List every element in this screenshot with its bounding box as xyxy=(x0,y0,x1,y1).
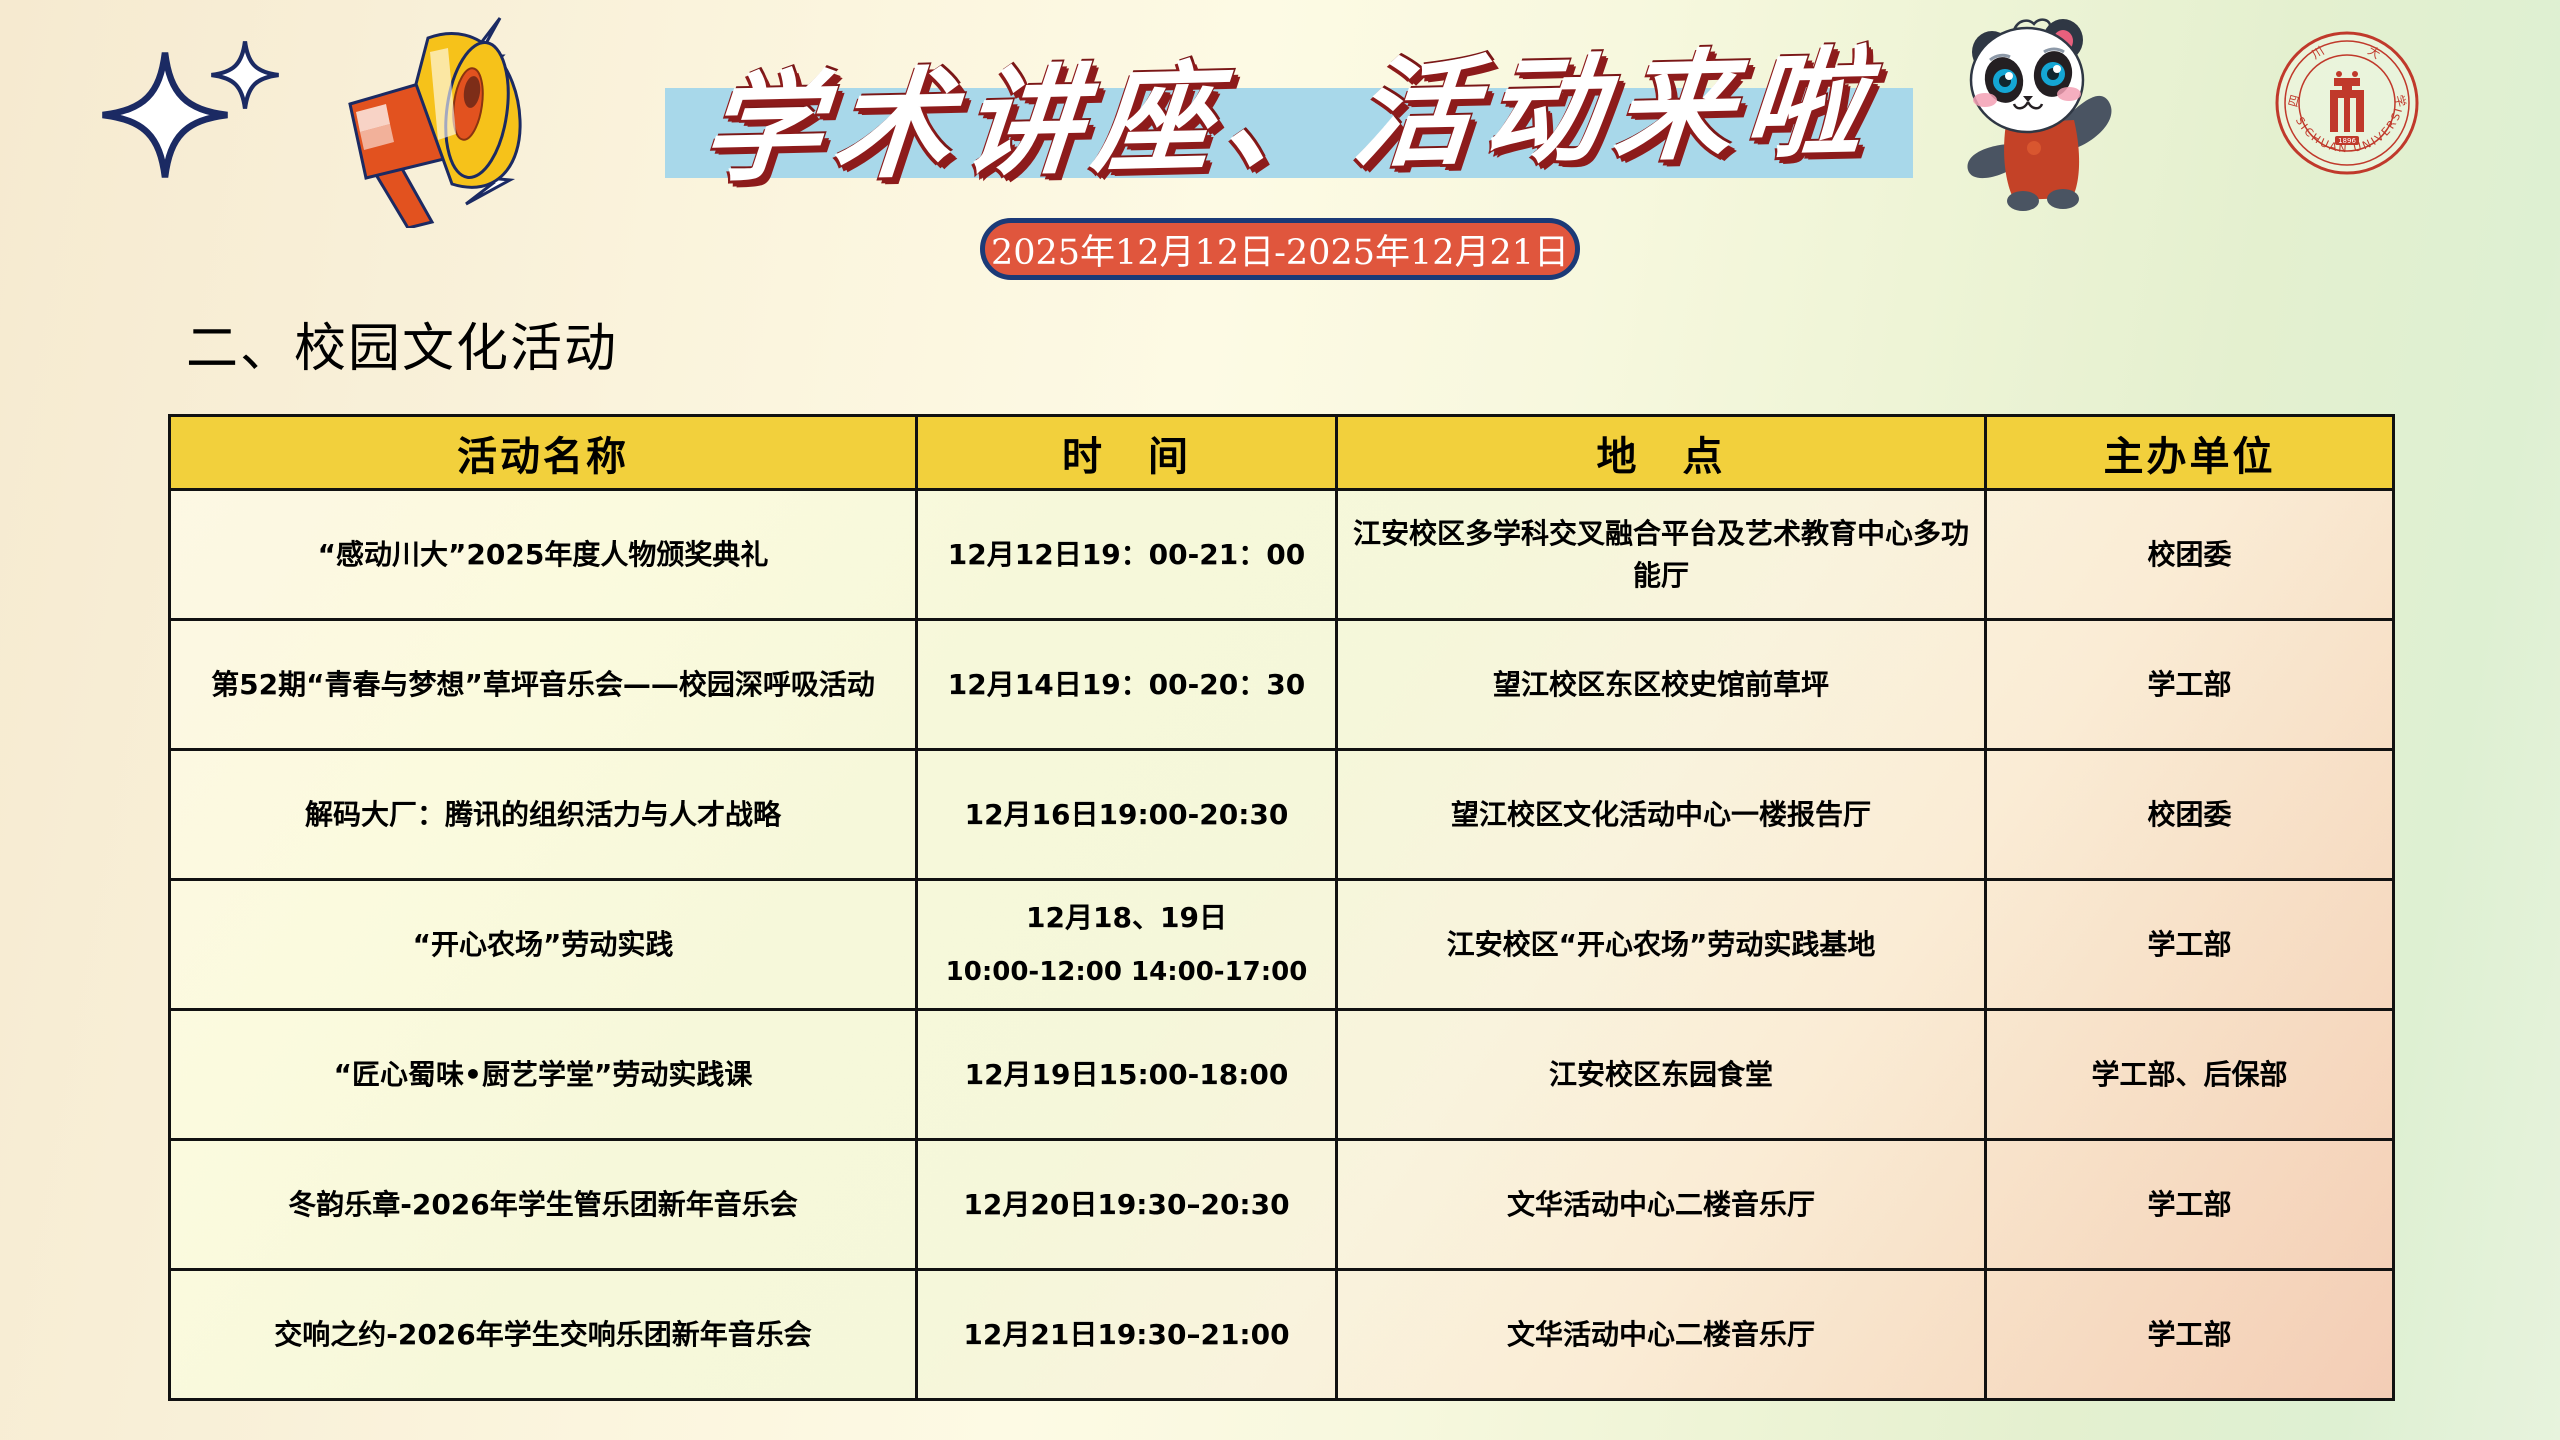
cell-activity-name: “匠心蜀味•厨艺学堂”劳动实践课 xyxy=(170,1010,917,1140)
cell-activity-name: “开心农场”劳动实践 xyxy=(170,880,917,1010)
cell-activity-name: “感动川大”2025年度人物颁奖典礼 xyxy=(170,490,917,620)
schedule-table-body: “感动川大”2025年度人物颁奖典礼 12月12日19：00-21：00 江安校… xyxy=(170,490,2394,1400)
cell-place: 江安校区多学科交叉融合平台及艺术教育中心多功能厅 xyxy=(1337,490,1986,620)
table-row: 解码大厂：腾讯的组织活力与人才战略 12月16日19:00-20:30 望江校区… xyxy=(170,750,2394,880)
table-row: “感动川大”2025年度人物颁奖典礼 12月12日19：00-21：00 江安校… xyxy=(170,490,2394,620)
cell-activity-name: 解码大厂：腾讯的组织活力与人才战略 xyxy=(170,750,917,880)
cell-time: 12月12日19：00-21：00 xyxy=(917,490,1337,620)
table-row: 冬韵乐章-2026年学生管乐团新年音乐会 12月20日19:30–20:30 文… xyxy=(170,1140,2394,1270)
date-range-badge: 2025年12月12日-2025年12月21日 xyxy=(980,218,1580,280)
cell-time: 12月19日15:00-18:00 xyxy=(917,1010,1337,1140)
column-header-time: 时 间 xyxy=(917,416,1337,490)
column-header-place: 地 点 xyxy=(1337,416,1986,490)
megaphone-icon xyxy=(200,8,580,228)
cell-organizer: 校团委 xyxy=(1986,750,2394,880)
cell-time-line-1: 12月18、19日 xyxy=(930,897,1323,939)
cell-activity-name: 第52期“青春与梦想”草坪音乐会——校园深呼吸活动 xyxy=(170,620,917,750)
section-heading: 二、校园文化活动 xyxy=(186,306,618,381)
cell-organizer: 学工部 xyxy=(1986,880,2394,1010)
schedule-table-container: 活动名称 时 间 地 点 主办单位 “感动川大”2025年度人物颁奖典礼 12月… xyxy=(168,414,2392,1401)
cell-place: 江安校区“开心农场”劳动实践基地 xyxy=(1337,880,1986,1010)
table-row: “匠心蜀味•厨艺学堂”劳动实践课 12月19日15:00-18:00 江安校区东… xyxy=(170,1010,2394,1140)
date-range-text: 2025年12月12日-2025年12月21日 xyxy=(980,218,1580,280)
cell-organizer: 学工部 xyxy=(1986,1140,2394,1270)
cell-time: 12月18、19日 10:00-12:00 14:00-17:00 xyxy=(917,880,1337,1010)
cell-place: 望江校区东区校史馆前草坪 xyxy=(1337,620,1986,750)
cell-place: 望江校区文化活动中心一楼报告厅 xyxy=(1337,750,1986,880)
column-header-activity-name: 活动名称 xyxy=(170,416,917,490)
cell-time: 12月14日19：00-20：30 xyxy=(917,620,1337,750)
cell-organizer: 学工部 xyxy=(1986,620,2394,750)
cell-time: 12月16日19:00-20:30 xyxy=(917,750,1337,880)
cell-activity-name: 冬韵乐章-2026年学生管乐团新年音乐会 xyxy=(170,1140,917,1270)
cell-time: 12月20日19:30–20:30 xyxy=(917,1140,1337,1270)
cell-organizer: 学工部 xyxy=(1986,1270,2394,1400)
column-header-organizer: 主办单位 xyxy=(1986,416,2394,490)
cell-place: 文华活动中心二楼音乐厅 xyxy=(1337,1270,1986,1400)
cell-time: 12月21日19:30–21:00 xyxy=(917,1270,1337,1400)
cell-organizer: 校团委 xyxy=(1986,490,2394,620)
table-row: “开心农场”劳动实践 12月18、19日 10:00-12:00 14:00-1… xyxy=(170,880,2394,1010)
schedule-table: 活动名称 时 间 地 点 主办单位 “感动川大”2025年度人物颁奖典礼 12月… xyxy=(168,414,2395,1401)
cell-place: 文华活动中心二楼音乐厅 xyxy=(1337,1140,1986,1270)
cell-activity-name: 交响之约-2026年学生交响乐团新年音乐会 xyxy=(170,1270,917,1400)
cell-place: 江安校区东园食堂 xyxy=(1337,1010,1986,1140)
table-row: 第52期“青春与梦想”草坪音乐会——校园深呼吸活动 12月14日19：00-20… xyxy=(170,620,2394,750)
panda-mascot-icon xyxy=(1930,8,2160,223)
table-row: 交响之约-2026年学生交响乐团新年音乐会 12月21日19:30–21:00 … xyxy=(170,1270,2394,1400)
cell-time-line-2: 10:00-12:00 14:00-17:00 xyxy=(930,953,1323,992)
poster-page: 1896 四 川 大 学 SICHUAN UNIVERSITY 学术讲座、活动来… xyxy=(0,0,2560,1440)
sichuan-university-logo-icon: 1896 四 川 大 学 SICHUAN UNIVERSITY xyxy=(2272,28,2422,178)
cell-organizer: 学工部、后保部 xyxy=(1986,1010,2394,1140)
page-title: 学术讲座、活动来啦 xyxy=(652,16,1927,195)
table-header-row: 活动名称 时 间 地 点 主办单位 xyxy=(170,416,2394,490)
